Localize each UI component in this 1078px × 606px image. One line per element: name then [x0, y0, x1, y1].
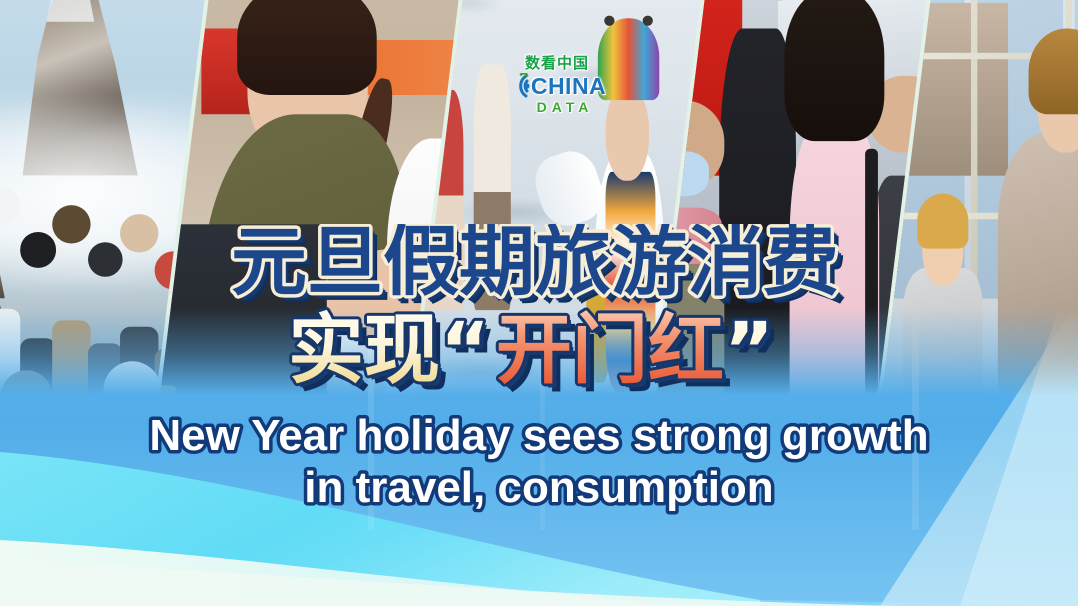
- headline-en: New Year holiday sees strong growth in t…: [0, 406, 1078, 536]
- brand-logo: 数看中国 CHINA DATA: [498, 56, 616, 114]
- poster-canvas: 数看中国 CHINA DATA: [0, 0, 1078, 606]
- headline-line1: 元旦假期旅游消费: [231, 224, 839, 306]
- headline-quote-open: “: [440, 305, 490, 394]
- headline-en-line1: New Year holiday sees strong growth: [149, 411, 928, 460]
- brand-name-sub: DATA: [498, 100, 616, 114]
- brand-name-en: CHINA: [531, 75, 606, 98]
- brand-name-cn: 数看中国: [498, 56, 616, 71]
- headline-quote-close: ”: [724, 305, 774, 394]
- wifi-arc-icon: [508, 73, 530, 99]
- headline-en-line2: in travel, consumption: [304, 463, 773, 512]
- headline-line2-prefix: 实现: [288, 305, 440, 394]
- headline-line2-highlight: 开门红: [496, 305, 724, 394]
- headline-cn: 元旦假期旅游消费 元旦假期旅游消费 元旦假期旅游消费 元旦假期旅游消费 实现 实…: [0, 224, 1078, 394]
